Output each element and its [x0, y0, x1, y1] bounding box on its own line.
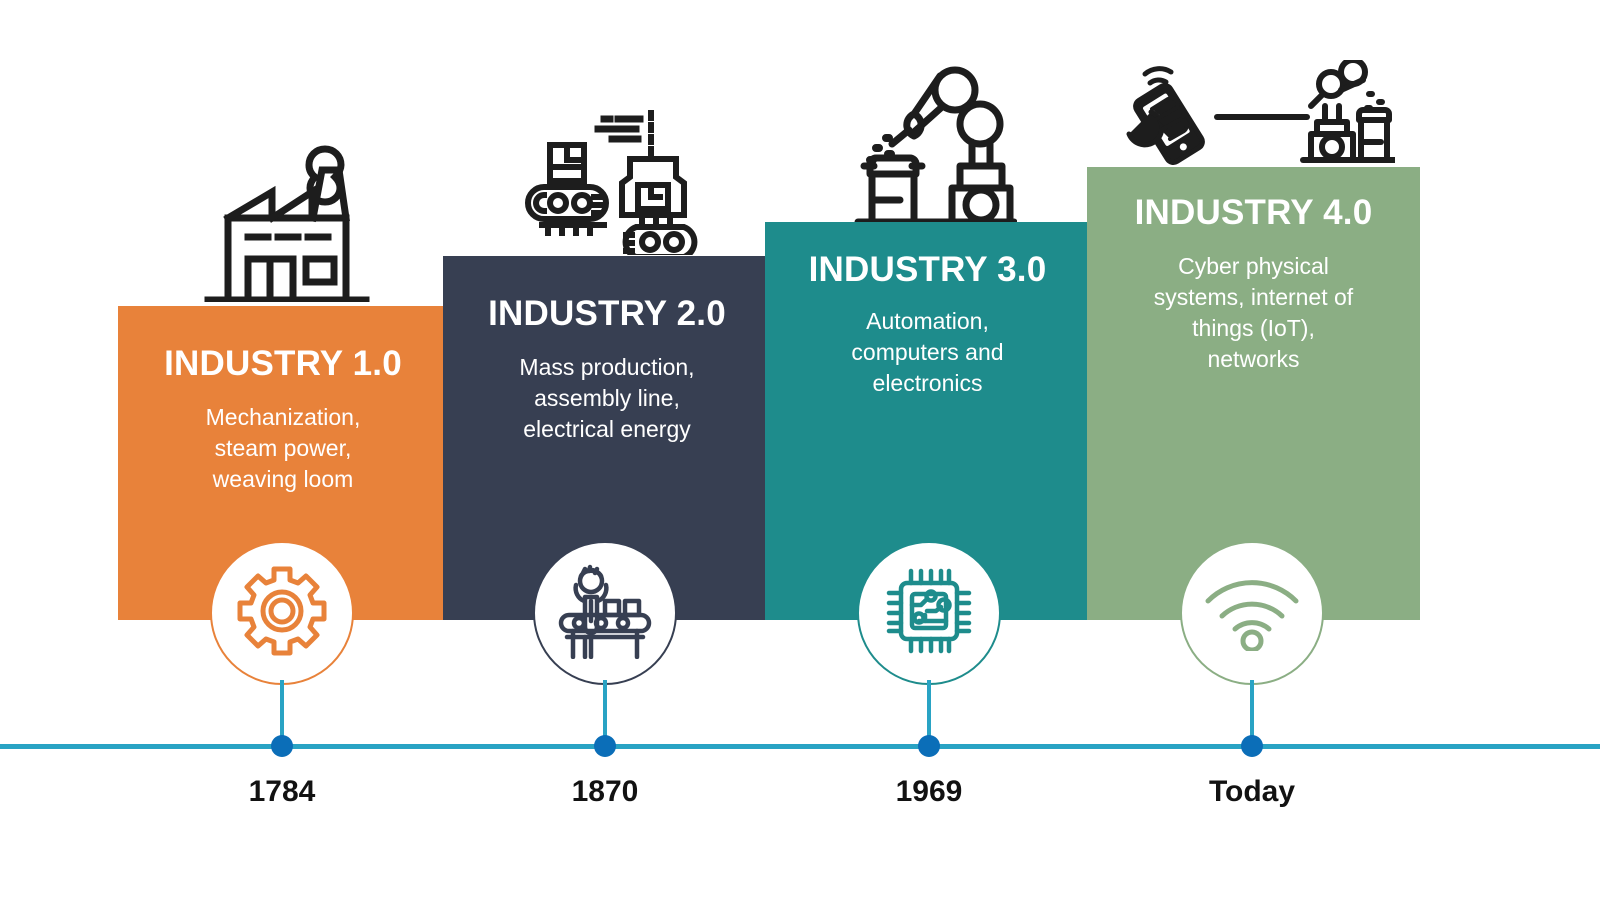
conveyor-machines-icon	[508, 105, 698, 260]
step-title: INDUSTRY 1.0	[118, 344, 448, 384]
timeline-dot-2[interactable]	[594, 735, 616, 757]
robot-arm-icon	[852, 62, 1017, 227]
timeline-label-3: 1969	[829, 775, 1029, 809]
step-description: Mass production, assembly line, electric…	[443, 352, 771, 445]
badge-industry-3	[857, 541, 1001, 685]
assembly-line-worker-icon	[555, 563, 655, 664]
microchip-icon	[881, 563, 977, 664]
step-description: Mechanization, steam power, weaving loom	[118, 402, 448, 495]
factory-icon	[200, 122, 370, 307]
step-title: INDUSTRY 4.0	[1087, 193, 1420, 233]
badge-industry-2	[533, 541, 677, 685]
step-description: Automation, computers and electronics	[765, 306, 1090, 399]
connected-smartphone-robot-icon	[1105, 60, 1395, 175]
timeline-dot-3[interactable]	[918, 735, 940, 757]
badge-industry-4	[1180, 541, 1324, 685]
timeline-dot-1[interactable]	[271, 735, 293, 757]
timeline-label-1: 1784	[182, 775, 382, 809]
wifi-icon	[1202, 571, 1302, 656]
timeline-label-4: Today	[1152, 775, 1352, 809]
badge-industry-1	[210, 541, 354, 685]
timeline-dot-4[interactable]	[1241, 735, 1263, 757]
step-description: Cyber physical systems, internet of thin…	[1087, 251, 1420, 375]
timeline-axis	[0, 744, 1600, 749]
timeline-label-2: 1870	[505, 775, 705, 809]
step-title: INDUSTRY 2.0	[443, 294, 771, 334]
gear-icon	[234, 563, 330, 664]
industry-evolution-infographic: INDUSTRY 1.0 Mechanization, steam power,…	[0, 0, 1600, 900]
step-title: INDUSTRY 3.0	[765, 250, 1090, 290]
